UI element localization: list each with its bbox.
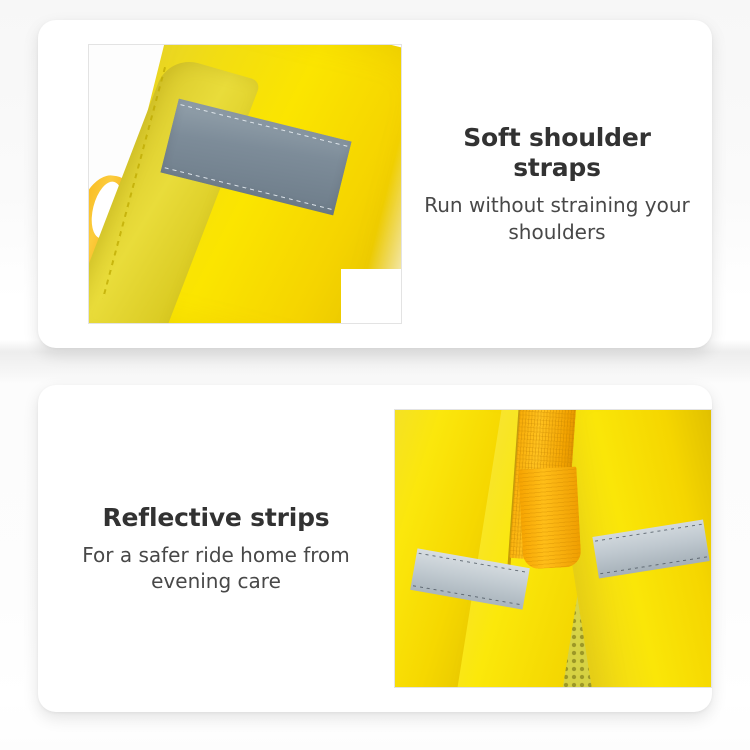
card-inner: Soft shoulder straps Run without straini… — [38, 20, 712, 348]
feature-text-block-2: Reflective strips For a safer ride home … — [38, 503, 394, 595]
feature-card-reflective-strips[interactable]: Reflective strips For a safer ride home … — [38, 385, 712, 712]
photo-corner-mask — [341, 269, 401, 323]
orange-webbing-fold-shape — [518, 467, 581, 570]
feature-card-soft-shoulder-straps[interactable]: Soft shoulder straps Run without straini… — [38, 20, 712, 348]
photo-stage — [89, 45, 401, 323]
photo-stage — [395, 410, 711, 687]
product-photo-reflective-strips — [394, 409, 712, 688]
feature-title-1: Soft shoulder straps — [416, 123, 698, 183]
feature-text-block-1: Soft shoulder straps Run without straini… — [402, 123, 712, 245]
feature-cards-page: Soft shoulder straps Run without straini… — [0, 0, 750, 750]
feature-title-2: Reflective strips — [52, 503, 380, 533]
product-photo-shoulder-strap — [88, 44, 402, 324]
card-inner: Reflective strips For a safer ride home … — [38, 385, 712, 712]
feature-subtitle-2: For a safer ride home from evening care — [71, 542, 361, 595]
feature-subtitle-1: Run without straining your shoulders — [416, 192, 698, 245]
